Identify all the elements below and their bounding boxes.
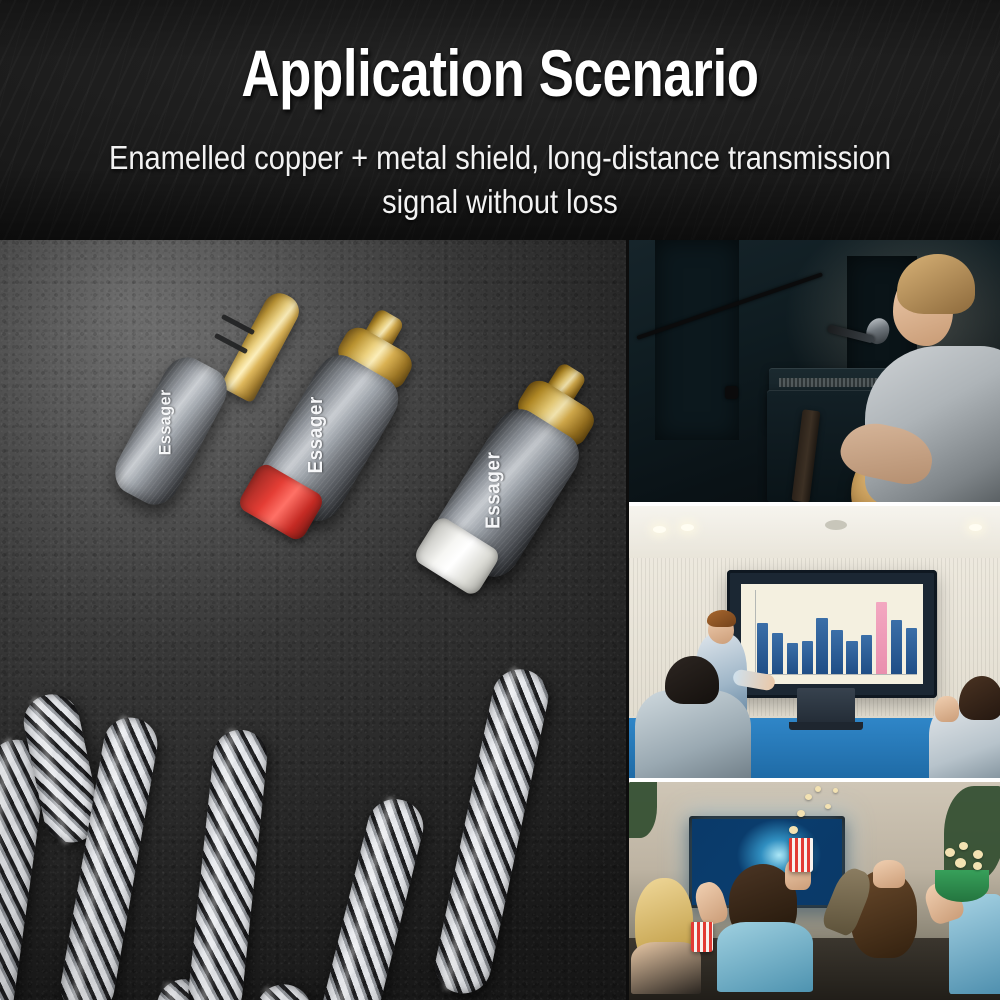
subtitle-line-2: signal without loss [60,180,940,224]
scene-conference-presentation [629,506,1000,778]
scene-divider-2 [629,778,1000,782]
subtitle-line-1: Enamelled copper + metal shield, long-di… [60,136,940,180]
chart-bar [772,633,783,674]
popcorn-kernel [973,850,983,859]
header-banner: Application Scenario Enamelled copper + … [0,0,1000,240]
chart-bar [891,620,902,674]
bar-chart [757,592,917,674]
popcorn-kernel [815,786,821,792]
chart-bar [846,641,857,674]
popcorn-kernel [789,826,798,834]
popcorn-kernel [833,788,838,793]
popcorn-box-left [691,922,713,952]
popcorn-kernel [955,858,966,868]
viewer-3-hand [873,860,905,888]
product-photo: Essager Essager Essager [0,240,626,1000]
page-title: Application Scenario [100,40,900,106]
attendee-right-hand [935,696,959,722]
popcorn-box-center [789,838,813,872]
chart-bar [906,628,917,674]
popcorn-kernel [797,810,805,817]
chart-y-axis [755,590,756,675]
photo-vignette [0,240,626,1000]
scene-home-cinema [629,782,1000,1000]
chart-bar [816,618,827,674]
scene-divider-1 [629,502,1000,506]
studio-wall-panel [655,240,739,440]
scene-panel-column [629,240,1000,1000]
viewer-2-body [717,922,813,992]
scene-studio-recording [629,240,1000,502]
presenter-hair [707,610,736,627]
popcorn-kernel [973,862,982,870]
chart-bar [787,643,798,674]
chart-bar [802,641,813,674]
popcorn-kernel [825,804,831,809]
chart-bar [876,602,887,674]
chart-bar [831,630,842,674]
laptop-base [789,722,863,730]
house-plant-right [944,786,1000,882]
page-subtitle: Enamelled copper + metal shield, long-di… [60,136,940,224]
ceiling-light-1 [653,526,666,533]
popcorn-kernel [805,794,812,800]
mic-stand-clamp [725,386,738,399]
meeting-room-ceiling [629,506,1000,558]
chart-x-axis [755,674,917,675]
chart-bar [861,635,872,674]
chart-bar [757,623,768,674]
laptop-screen [797,688,855,724]
popcorn-kernel [945,848,955,857]
attendee-left-head [665,656,719,704]
popcorn-bowl [935,870,989,902]
ceiling-light-3 [969,524,982,531]
ceiling-light-2 [681,524,694,531]
content-area: Essager Essager Essager [0,240,1000,1000]
application-scenario-banner: Application Scenario Enamelled copper + … [0,0,1000,1000]
chart-canvas [741,584,923,684]
popcorn-kernel [959,842,968,850]
ceiling-speaker [825,520,847,530]
